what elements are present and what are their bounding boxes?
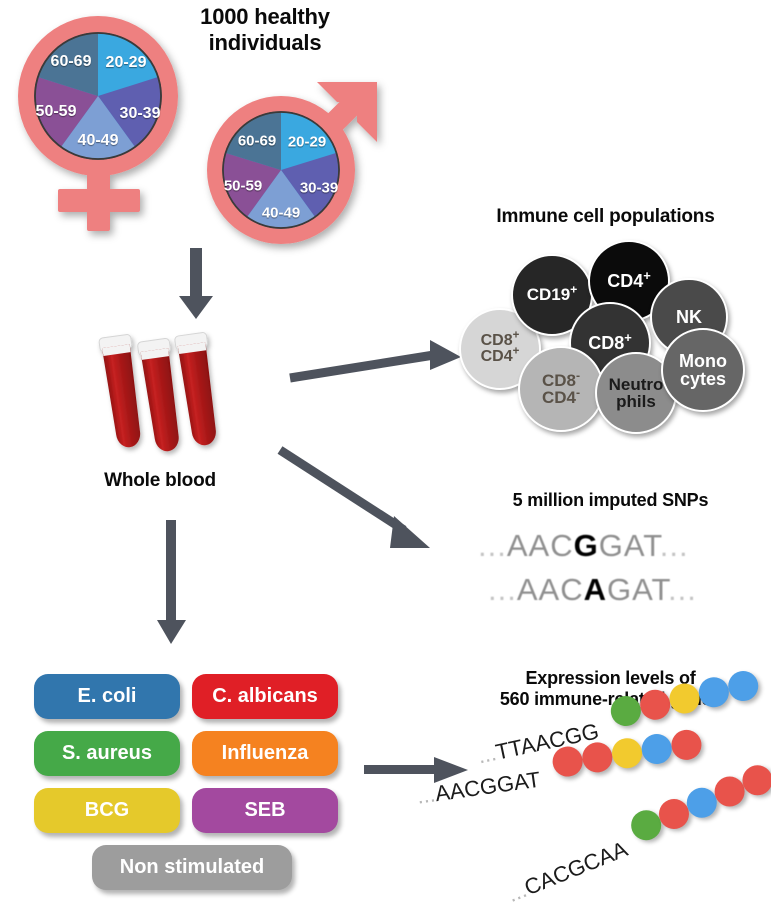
stimulus-label: E. coli	[78, 685, 137, 708]
rna-bead-yellow	[610, 736, 644, 770]
snp1-prefix: ...	[478, 528, 507, 563]
immune-cell-label-line: CD8+	[588, 334, 632, 352]
snp1-pre: AAC	[507, 528, 574, 563]
snp2-post: GAT	[607, 572, 668, 607]
stimulus-label: BCG	[85, 799, 129, 822]
stimulus-label: Non stimulated	[120, 856, 264, 879]
snp2-variant: A	[584, 572, 607, 607]
rna-sequence-text: ...CACGCAA	[504, 836, 632, 908]
blood-tube-3	[174, 332, 221, 447]
page-title-cohort: 1000 healthy individuals	[170, 4, 360, 56]
stimulus-bcg[interactable]: BCG	[34, 788, 180, 833]
immune-cell-label-line: Mono	[679, 352, 727, 370]
stimulus-influenza[interactable]: Influenza	[192, 731, 338, 776]
immune-cell-label-line: CD4+	[481, 349, 520, 365]
arrow-blood-to-stimuli	[152, 520, 192, 646]
immune-cell-cluster: CD8+CD4+CD19+CD4+NKCD8+CD8-CD4-Neutrophi…	[455, 240, 771, 420]
snp2-prefix: ...	[488, 572, 517, 607]
label-whole-blood: Whole blood	[60, 470, 260, 492]
immune-cell-label-line: CD4-	[542, 389, 580, 406]
snp1-variant: G	[574, 528, 599, 563]
rna-sequence-bases: CACGCAA	[521, 836, 631, 900]
snp-sequences: ...AACGGAT... ...AACAGAT...	[478, 528, 758, 628]
snp1-post: GAT	[599, 528, 660, 563]
cohort-title-line2: individuals	[170, 30, 360, 56]
stimulus-label: S. aureus	[62, 742, 152, 765]
snp2-pre: AAC	[517, 572, 584, 607]
male-age-pie	[223, 112, 339, 228]
section-title-immune-cells: Immune cell populations	[440, 206, 771, 228]
immune-cell-label-line: CD19+	[527, 286, 578, 303]
immune-cell-label-line: Neutro	[609, 376, 664, 393]
immune-cell-monocytes: Monocytes	[661, 328, 745, 412]
snp2-suffix: ...	[668, 572, 697, 607]
snp-sequence-row-1: ...AACGGAT...	[478, 528, 689, 564]
stimulus-seb[interactable]: SEB	[192, 788, 338, 833]
rna-bead-red	[670, 728, 704, 762]
snp-sequence-row-2: ...AACAGAT...	[488, 572, 697, 608]
immune-cell-label-line: phils	[609, 393, 664, 410]
cohort-title-line1: 1000 healthy	[170, 4, 360, 30]
stimulus-e-coli[interactable]: E. coli	[34, 674, 180, 719]
stimulus-non-stimulated[interactable]: Non stimulated	[92, 845, 292, 890]
stimulus-c-albicans[interactable]: C. albicans	[192, 674, 338, 719]
immune-cell-label-line: CD4+	[607, 272, 651, 290]
rna-strands: ...TTAACGG...AACGGAT...CACGCAA	[455, 720, 771, 920]
immune-cell-label-line: cytes	[679, 370, 727, 388]
male-symbol: 20-29 30-39 40-49 50-59 60-69	[205, 78, 390, 253]
immune-cell-cd8-cd4: CD8-CD4-	[518, 346, 604, 432]
immune-cell-label-line: NK	[676, 308, 702, 326]
rna-bead-blue	[640, 732, 674, 766]
section-title-snps: 5 million imputed SNPs	[450, 490, 771, 511]
arrow-blood-to-immune	[288, 336, 468, 386]
stimulus-label: C. albicans	[212, 685, 318, 708]
stimulus-s-aureus[interactable]: S. aureus	[34, 731, 180, 776]
arrow-blood-to-snps	[278, 448, 448, 568]
blood-tube-2	[137, 338, 184, 453]
snp1-suffix: ...	[660, 528, 689, 563]
figure-canvas: 20-29 30-39 40-49 50-59 60-69	[0, 0, 771, 922]
arrow-cohort-to-blood	[176, 248, 216, 320]
blood-tubes	[96, 330, 232, 465]
stimulus-label: Influenza	[222, 742, 309, 765]
immune-cell-label-line: CD8-	[542, 372, 580, 389]
stimulus-label: SEB	[244, 799, 285, 822]
female-age-pie	[35, 33, 161, 159]
